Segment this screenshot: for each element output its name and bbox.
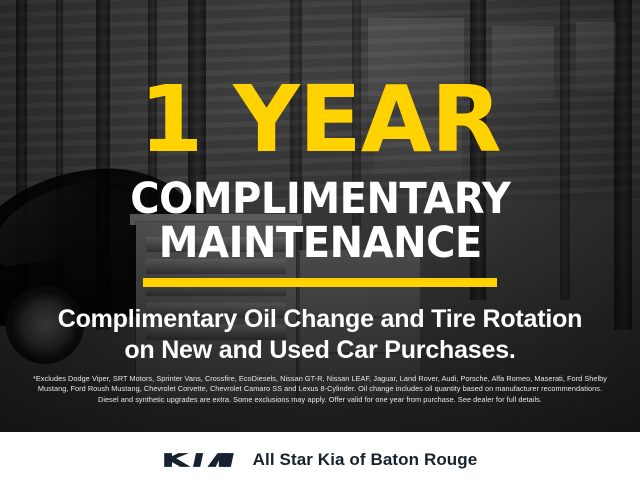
disclaimer-line-2: Mustang, Ford Roush Mustang, Chevrolet C… [14, 384, 626, 394]
promotional-banner: 1 YEAR COMPLIMENTARY MAINTENANCE Complim… [0, 0, 640, 488]
subheadline-line-2: MAINTENANCE [130, 221, 510, 266]
dealer-name: All Star Kia of Baton Rouge [253, 450, 478, 470]
disclaimer-line-1: *Excludes Dodge Viper, SRT Motors, Sprin… [14, 374, 626, 384]
offer-tagline-line-1: Complimentary Oil Change and Tire Rotati… [58, 304, 583, 335]
subheadline-line-1: COMPLIMENTARY [130, 177, 510, 222]
subheadline: COMPLIMENTARY MAINTENANCE [130, 177, 510, 266]
footer-bar: All Star Kia of Baton Rouge [0, 432, 640, 488]
offer-tagline: Complimentary Oil Change and Tire Rotati… [58, 304, 583, 367]
offer-tagline-line-2: on New and Used Car Purchases. [58, 335, 583, 366]
kia-logo [163, 448, 235, 472]
yellow-divider-rule [143, 278, 497, 287]
headline-one-year: 1 YEAR [139, 78, 501, 163]
disclaimer-line-3: Diesel and synthetic upgrades are extra.… [14, 395, 626, 405]
disclaimer-text: *Excludes Dodge Viper, SRT Motors, Sprin… [14, 374, 626, 405]
banner-content: 1 YEAR COMPLIMENTARY MAINTENANCE Complim… [0, 0, 640, 432]
